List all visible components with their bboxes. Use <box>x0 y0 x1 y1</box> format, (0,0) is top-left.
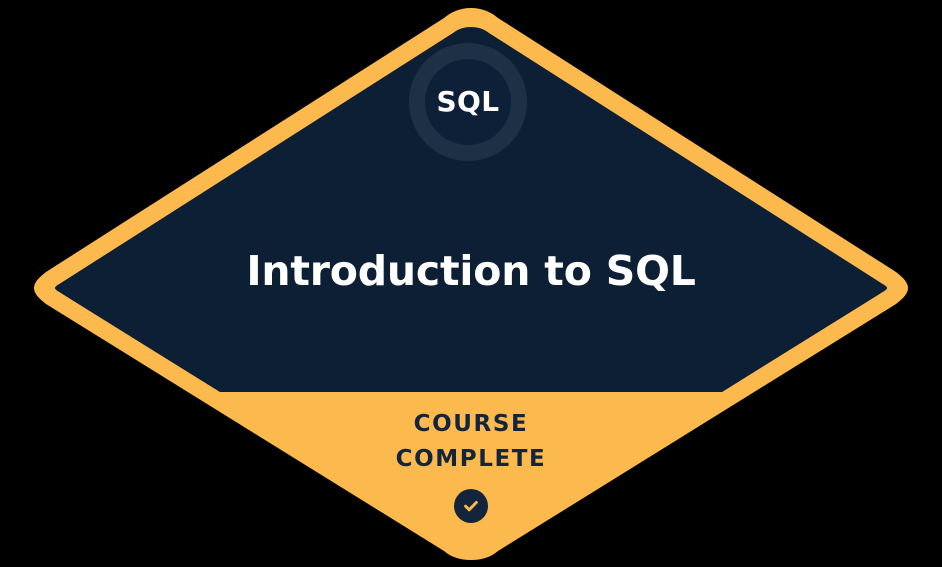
course-completion-badge: SQL Introduction to SQL COURSE COMPLETE <box>0 0 942 567</box>
checkmark-glyph <box>461 496 481 516</box>
status-line-course: COURSE <box>0 407 942 442</box>
sql-circle-emblem: SQL <box>409 43 527 161</box>
status-line-complete: COMPLETE <box>0 442 942 477</box>
check-circle-icon <box>454 489 488 523</box>
course-title: Introduction to SQL <box>0 243 942 299</box>
badge-content: SQL Introduction to SQL COURSE COMPLETE <box>0 0 942 567</box>
status-block: COURSE COMPLETE <box>0 407 942 523</box>
sql-emblem-label: SQL <box>436 88 499 116</box>
sql-emblem-core: SQL <box>425 59 511 145</box>
